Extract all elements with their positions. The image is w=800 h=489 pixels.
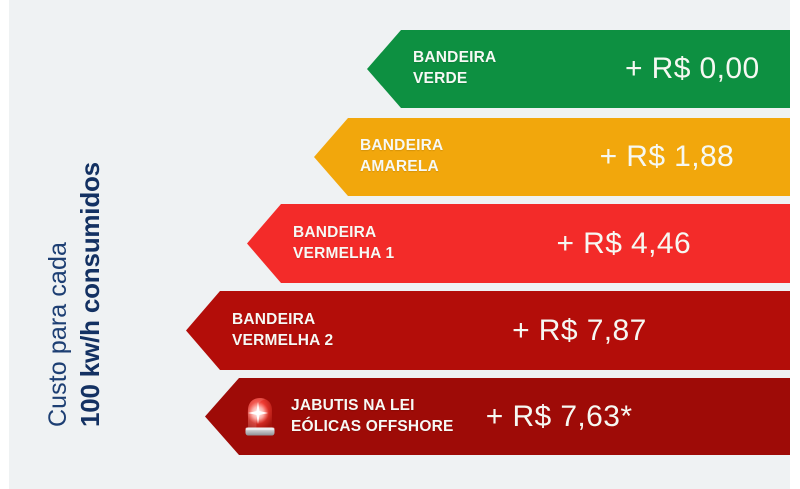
bar-content: BANDEIRA VERDE + R$ 0,00 — [367, 30, 790, 108]
bar-value: + R$ 4,46 — [557, 227, 692, 261]
bar-bandeira-vermelha-2[interactable]: BANDEIRA VERMELHA 2 + R$ 7,87 — [186, 291, 790, 370]
left-edge-gutter — [0, 0, 9, 489]
bar-content: BANDEIRA VERMELHA 2 + R$ 7,87 — [186, 291, 790, 370]
axis-caption-line-2: 100 kw/h consumidos — [75, 162, 106, 427]
bar-value: + R$ 7,87 — [512, 314, 647, 348]
bar-bandeira-vermelha-1[interactable]: BANDEIRA VERMELHA 1 + R$ 4,46 — [247, 204, 790, 283]
siren-icon — [243, 396, 277, 438]
bar-content: BANDEIRA VERMELHA 1 + R$ 4,46 — [247, 204, 790, 283]
bar-bandeira-verde[interactable]: BANDEIRA VERDE + R$ 0,00 — [367, 30, 790, 108]
axis-caption-line-1: Custo para cada — [44, 242, 74, 427]
infographic-canvas: Custo para cada 100 kw/h consumidos BAND… — [0, 0, 800, 489]
bar-label: BANDEIRA AMARELA — [360, 136, 443, 177]
bar-value: + R$ 7,63* — [486, 400, 633, 434]
bar-label: BANDEIRA VERDE — [413, 48, 496, 89]
bar-label: BANDEIRA VERMELHA 1 — [293, 223, 394, 264]
right-edge-gutter — [790, 0, 800, 489]
bar-jabutis-na-lei-eolicas-offshore[interactable]: JABUTIS NA LEI EÓLICAS OFFSHORE + R$ 7,6… — [205, 378, 790, 455]
bar-bandeira-amarela[interactable]: BANDEIRA AMARELA + R$ 1,88 — [314, 118, 790, 196]
bar-content: JABUTIS NA LEI EÓLICAS OFFSHORE + R$ 7,6… — [205, 378, 790, 455]
bar-label: JABUTIS NA LEI EÓLICAS OFFSHORE — [291, 396, 454, 437]
bar-value: + R$ 1,88 — [600, 140, 735, 174]
axis-caption: Custo para cada 100 kw/h consumidos — [0, 0, 150, 489]
bar-label: BANDEIRA VERMELHA 2 — [232, 310, 333, 351]
bar-content: BANDEIRA AMARELA + R$ 1,88 — [314, 118, 790, 196]
bar-value: + R$ 0,00 — [625, 52, 760, 86]
